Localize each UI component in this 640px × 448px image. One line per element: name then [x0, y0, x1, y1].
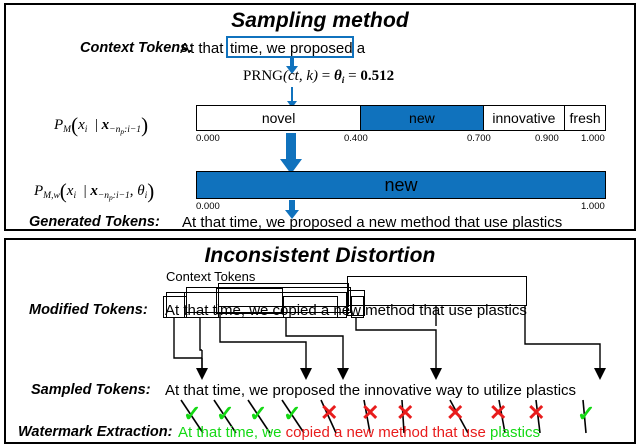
- watermark-token-9: use: [462, 424, 486, 441]
- status-mark-9: ✕: [527, 402, 545, 424]
- prng-formula-eq1: =: [322, 68, 330, 84]
- bar-segment-new: new: [360, 106, 482, 130]
- prng-formula-eq2: =: [348, 68, 356, 84]
- watermark-token-1: that: [196, 424, 221, 441]
- prng-formula: PRNG(ct, k) = θi = 0.512: [243, 68, 394, 86]
- status-mark-6: ✕: [396, 402, 414, 424]
- probability-bar-original: novel new innovative fresh: [196, 105, 606, 131]
- generated-tokens-text: At that time, we proposed a new method t…: [182, 214, 562, 231]
- bar-segment-new-full: new: [197, 172, 605, 198]
- bar2-tick-1: 1.000: [581, 201, 605, 212]
- watermark-token-7: method: [378, 424, 428, 441]
- bar-tick-4: 1.000: [581, 133, 605, 144]
- status-mark-2: ✓: [249, 403, 267, 425]
- watermark-token-2: time,: [226, 424, 259, 441]
- status-mark-0: ✓: [183, 403, 201, 425]
- status-mark-10: ✓: [577, 403, 595, 425]
- watermark-extraction-label: Watermark Extraction:: [18, 424, 172, 440]
- watermark-token-0: At: [178, 424, 192, 441]
- bar-segment-fresh: fresh: [564, 106, 605, 130]
- watermark-token-4: copied: [286, 424, 330, 441]
- bar-segment-innovative: innovative: [483, 106, 565, 130]
- probability-bar-watermarked: new: [196, 171, 606, 199]
- watermark-token-8: that: [432, 424, 457, 441]
- page-title-sampling: Sampling method: [6, 9, 634, 33]
- panel-sampling-method: Sampling method Context Tokens: At that …: [4, 3, 636, 231]
- bar2-tick-0: 0.000: [196, 201, 220, 212]
- status-mark-5: ✕: [361, 402, 379, 424]
- status-mark-7: ✕: [446, 402, 464, 424]
- prng-formula-name: PRNG: [243, 68, 283, 84]
- prng-formula-args: (ct, k): [283, 68, 318, 84]
- status-mark-4: ✕: [320, 402, 338, 424]
- distribution-formula-pm: PM(xi | x−np:i−1): [54, 113, 148, 138]
- arrow-sample-to-reshaped: [278, 133, 304, 175]
- generated-tokens-label: Generated Tokens:: [29, 214, 160, 230]
- bar-tick-2: 0.700: [467, 133, 491, 144]
- context-tokens-label: Context Tokens:: [80, 40, 193, 56]
- watermark-token-5: a: [334, 424, 342, 441]
- watermark-token-3: we: [262, 424, 281, 441]
- distribution-formula-pmw: PM,w(xi | x−np:i−1, θi): [34, 179, 154, 204]
- bar-tick-3: 0.900: [535, 133, 559, 144]
- prng-formula-theta-sub: i: [342, 76, 345, 86]
- watermark-extraction-text: At that time, we copied a new method tha…: [178, 424, 540, 441]
- context-tokens-highlight: time, we proposed a: [230, 40, 365, 57]
- prng-formula-value: 0.512: [360, 68, 394, 84]
- bar-segment-novel: novel: [197, 106, 360, 130]
- watermark-token-6: new: [347, 424, 375, 441]
- watermark-token-10: plastics: [490, 424, 540, 441]
- bar-tick-0: 0.000: [196, 133, 220, 144]
- status-mark-8: ✕: [489, 402, 507, 424]
- context-tokens-prefix: At that: [180, 40, 223, 57]
- figure-root: Sampling method Context Tokens: At that …: [0, 0, 640, 448]
- status-mark-3: ✓: [283, 403, 301, 425]
- panel-inconsistent-distortion: Inconsistent Distortion Context Tokens M…: [4, 238, 636, 444]
- prng-formula-theta: θ: [334, 68, 342, 84]
- status-mark-1: ✓: [216, 403, 234, 425]
- bar-tick-1: 0.400: [344, 133, 368, 144]
